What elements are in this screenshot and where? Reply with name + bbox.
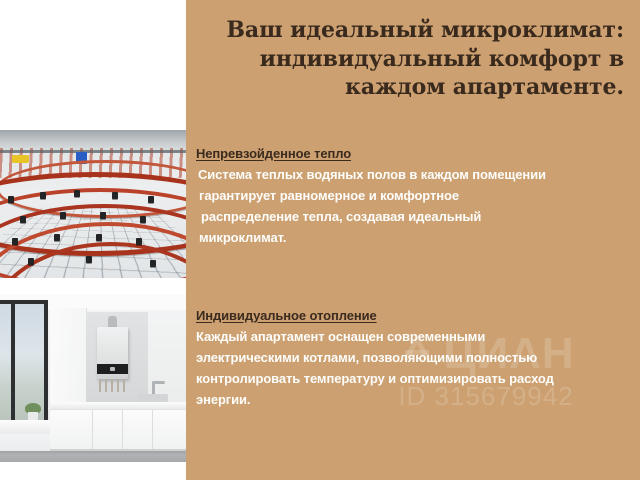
title-line: каждом апартаменте. xyxy=(200,73,624,102)
slide-root: ЦИАН ID 315679942 Ваш идеальный микрокли… xyxy=(0,0,640,480)
content-panel: ЦИАН ID 315679942 Ваш идеальный микрокли… xyxy=(186,0,640,480)
boiler-pipes xyxy=(99,379,125,392)
pipe-clip xyxy=(40,192,46,199)
pipe-clip xyxy=(150,260,156,267)
paragraph-line: гарантирует равномерное и комфортное xyxy=(196,185,640,206)
paragraph-line: микроклимат. xyxy=(196,227,640,248)
feature-subheading: Индивидуальное отопление xyxy=(196,308,640,324)
cabinet-seam xyxy=(152,409,153,451)
pipe-clip xyxy=(74,190,80,197)
pipe-clip xyxy=(8,196,14,203)
wall-edge-line xyxy=(0,150,186,153)
pipe-clip xyxy=(12,238,18,245)
feature-subheading: Непревзойденное тепло xyxy=(196,146,640,162)
photo-underfloor-heating-pipes xyxy=(0,130,186,278)
floor xyxy=(0,451,186,462)
pipe-clip xyxy=(28,258,34,265)
title-line: Ваш идеальный микроклимат: xyxy=(200,16,624,45)
pipe-clip xyxy=(86,256,92,263)
cabinet-seam xyxy=(122,409,123,451)
pipe-clip xyxy=(140,216,146,223)
paragraph-line: контролировать температуру и оптимизиров… xyxy=(196,368,640,389)
photo-kitchen-with-wall-boiler xyxy=(0,294,186,462)
paragraph-line: энергии. xyxy=(196,389,640,410)
pipe-clip xyxy=(60,212,66,219)
pipe-clip xyxy=(148,196,154,203)
paragraph-line: Система теплых водяных полов в каждом по… xyxy=(196,164,640,185)
image-column xyxy=(0,0,186,480)
pipe-clip xyxy=(112,192,118,199)
paragraph-line: Каждый апартамент оснащен современными xyxy=(196,326,640,347)
window-header xyxy=(0,300,48,304)
pipe-clip xyxy=(96,234,102,241)
pipe-clip xyxy=(136,238,142,245)
feature-block-underfloor-heating: Непревзойденное тепло Система теплых вод… xyxy=(196,146,640,248)
kitchen-illustration xyxy=(0,294,186,462)
page-title: Ваш идеальный микроклимат: индивидуальны… xyxy=(200,16,624,102)
feature-paragraph: Система теплых водяных полов в каждом по… xyxy=(196,164,640,248)
feature-block-individual-heating: Индивидуальное отопление Каждый апартаме… xyxy=(196,308,640,410)
window-mullion xyxy=(11,300,15,422)
boiler-display xyxy=(110,367,115,371)
base-cabinets xyxy=(50,409,186,452)
underfloor-heating-illustration xyxy=(0,130,186,278)
feature-paragraph: Каждый апартамент оснащен современными э… xyxy=(196,326,640,410)
window xyxy=(0,300,48,422)
pipe-clip xyxy=(100,212,106,219)
paragraph-line: распределение тепла, создавая идеальный xyxy=(196,206,640,227)
paragraph-line: электрическими котлами, позволяющими пол… xyxy=(196,347,640,368)
cabinet-seam xyxy=(92,409,93,451)
yellow-marker xyxy=(12,155,29,163)
pipe-clip xyxy=(20,216,26,223)
wall-boiler-icon xyxy=(97,327,128,379)
pipe-clip xyxy=(54,234,60,241)
title-line: индивидуальный комфорт в xyxy=(200,45,624,74)
